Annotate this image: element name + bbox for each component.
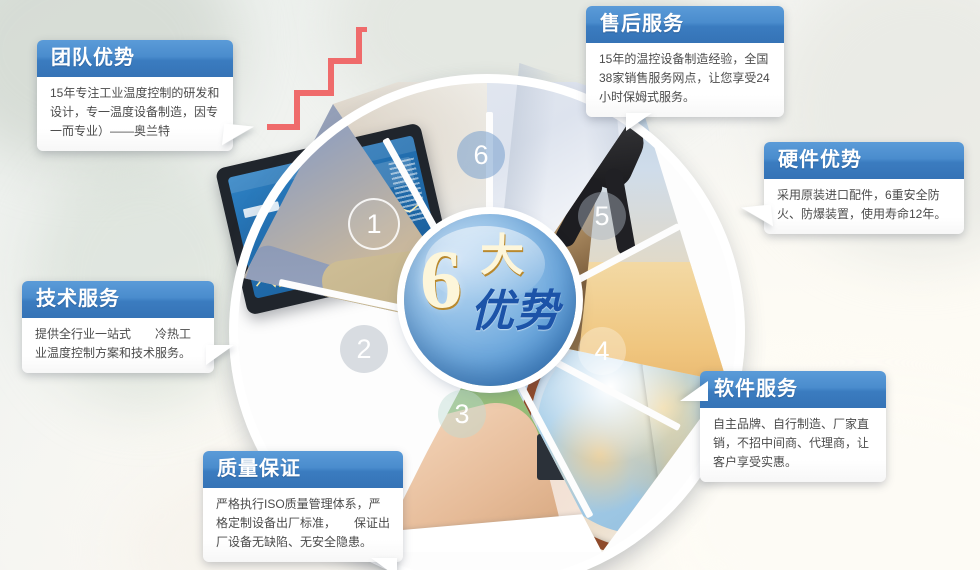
badge-3[interactable]: 3 [438,390,486,438]
center-unit: 大 [480,234,524,278]
callout-after-sales-service[interactable]: 售后服务 15年的温控设备制造经验，全国38家销售服务网点，让您享受24小时保姆… [586,6,784,117]
badge-2[interactable]: 2 [340,325,388,373]
callout-technical-service-tail [206,345,234,365]
callout-software-service-title: 软件服务 [700,371,886,408]
callout-software-service[interactable]: 软件服务 自主品牌、自行制造、厂家直销，不招中间商、代理商，让客户享受实惠。 [700,371,886,482]
center-circle-text: 6 大 优势 [404,214,576,386]
callout-after-sales-service-tail [626,113,652,131]
callout-quality-guarantee[interactable]: 质量保证 严格执行ISO质量管理体系，严格定制设备出厂标准， 保证出厂设备无缺陷… [203,451,403,562]
center-word: 优势 [470,288,560,336]
callout-hardware-advantage-title: 硬件优势 [764,142,964,179]
badge-1-label: 1 [366,209,381,240]
badge-4[interactable]: 4 [578,327,626,375]
callout-quality-guarantee-title: 质量保证 [203,451,403,488]
callout-quality-guarantee-tail [371,558,397,570]
badge-5[interactable]: 5 [578,192,626,240]
callout-team-advantage-body: 15年专注工业温度控制的研发和设计，专一温度设备制造，因专一而专业）——奥兰特 [37,77,233,151]
callout-technical-service-title: 技术服务 [22,281,214,318]
callout-team-advantage-title: 团队优势 [37,40,233,77]
infographic-canvas: 6 大 优势 1 2 3 4 5 6 团队优势 15年专注工业温度控制的研发和设… [0,0,980,570]
badge-3-label: 3 [454,399,469,430]
callout-software-service-body: 自主品牌、自行制造、厂家直销，不招中间商、代理商，让客户享受实惠。 [700,408,886,482]
center-number: 6 [420,238,462,322]
callout-hardware-advantage[interactable]: 硬件优势 采用原装进口配件，6重安全防火、防爆装置，使用寿命12年。 [764,142,964,234]
center-circle: 6 大 优势 [404,214,576,386]
callout-technical-service-body: 提供全行业一站式 冷热工业温度控制方案和技术服务。 [22,318,214,373]
badge-6[interactable]: 6 [457,131,505,179]
badge-6-label: 6 [473,140,488,171]
callout-technical-service[interactable]: 技术服务 提供全行业一站式 冷热工业温度控制方案和技术服务。 [22,281,214,373]
callout-quality-guarantee-body: 严格执行ISO质量管理体系，严格定制设备出厂标准， 保证出厂设备无缺陷、无安全隐… [203,488,403,562]
badge-5-label: 5 [594,201,609,232]
callout-hardware-advantage-tail [741,204,773,229]
badge-2-label: 2 [356,334,371,365]
callout-after-sales-service-title: 售后服务 [586,6,784,43]
callout-after-sales-service-body: 15年的温控设备制造经验，全国38家销售服务网点，让您享受24小时保姆式服务。 [586,43,784,117]
callout-team-advantage-tail [222,123,254,148]
callout-team-advantage[interactable]: 团队优势 15年专注工业温度控制的研发和设计，专一温度设备制造，因专一而专业）—… [37,40,233,151]
badge-4-label: 4 [594,336,609,367]
callout-hardware-advantage-body: 采用原装进口配件，6重安全防火、防爆装置，使用寿命12年。 [764,179,964,234]
badge-1[interactable]: 1 [348,198,400,250]
callout-software-service-tail [680,381,708,401]
